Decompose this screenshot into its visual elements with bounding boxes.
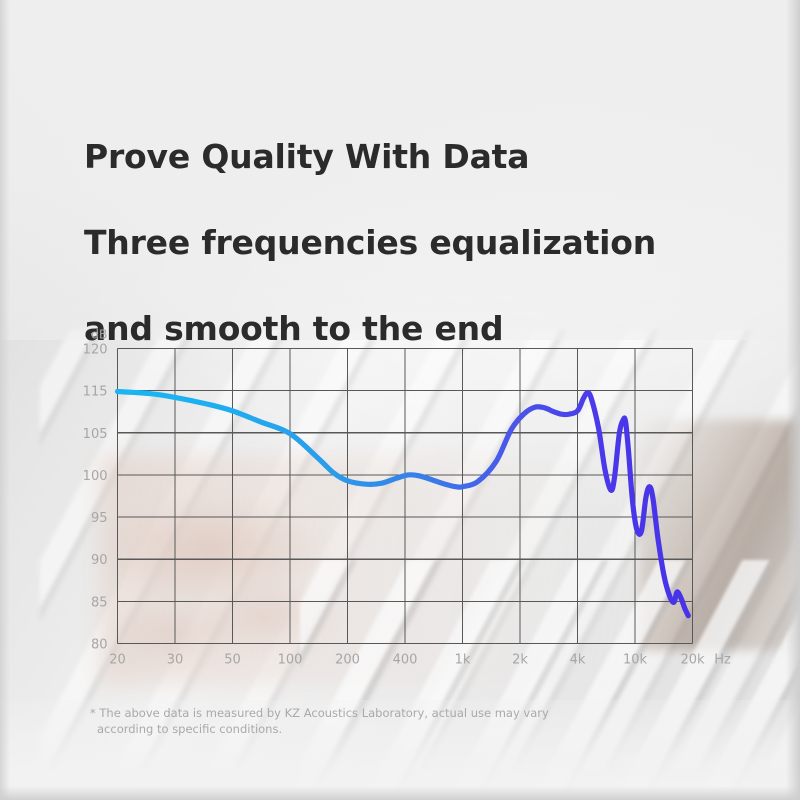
y-axis-tick-label: 120 <box>83 343 108 358</box>
y-axis-tick-label: 100 <box>83 469 108 484</box>
y-axis-tick-label: 95 <box>91 511 108 526</box>
x-axis-tick-label: 50 <box>224 653 241 668</box>
x-axis-tick-label: 1k <box>455 653 471 668</box>
x-axis-tick-label: 30 <box>167 653 184 668</box>
y-axis-tick-label: 85 <box>91 595 108 610</box>
x-axis-tick-label: 2k <box>512 653 528 668</box>
chart-svg: 12011510510095908580dB2030501002004001k2… <box>0 0 800 800</box>
y-axis-tick-label: 80 <box>91 638 108 653</box>
y-axis-unit-label: dB <box>91 327 108 342</box>
frequency-response-line <box>118 391 689 615</box>
x-axis-tick-label: 20k <box>680 653 705 668</box>
x-axis-unit-label: Hz <box>714 653 731 668</box>
chart-gridlines <box>118 349 693 644</box>
footnote-line-1: * The above data is measured by KZ Acous… <box>90 706 549 720</box>
x-axis-tick-label: 200 <box>335 653 360 668</box>
footnote-line-2: according to specific conditions. <box>90 721 710 737</box>
x-axis-tick-label: 20 <box>109 653 126 668</box>
footnote: * The above data is measured by KZ Acous… <box>90 705 710 737</box>
promo-graphic: Prove Quality With Data Three frequencie… <box>0 0 800 800</box>
x-axis-tick-label: 400 <box>393 653 418 668</box>
chart-curve <box>118 391 689 615</box>
x-axis-tick-label: 4k <box>570 653 586 668</box>
x-axis-tick-label: 10k <box>623 653 648 668</box>
frequency-response-chart: 12011510510095908580dB2030501002004001k2… <box>0 0 800 800</box>
y-axis-tick-label: 90 <box>91 553 108 568</box>
y-axis-tick-label: 105 <box>83 427 108 442</box>
y-axis-tick-label: 115 <box>83 385 108 400</box>
x-axis-tick-label: 100 <box>278 653 303 668</box>
